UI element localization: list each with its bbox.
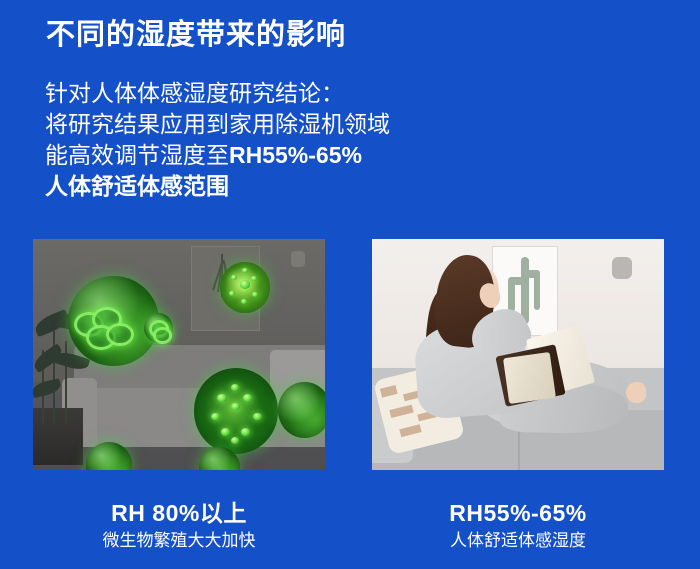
photo-right-comfort [372,239,664,470]
photo-left-microbes [33,239,325,470]
subcopy-line-1: 针对人体体感湿度研究结论： [45,78,390,109]
caption-left-subtitle: 微生物繁殖大大加快 [33,528,325,554]
book-page-lower [503,351,556,403]
page-title: 不同的湿度带来的影响 [46,18,346,53]
woman-foot [626,382,646,403]
scene-bright-room [372,239,664,470]
subcopy-line-3-normal: 能高效调节湿度至 [45,142,229,168]
caption-right-title: RH55%-65% [372,498,664,528]
subcopy-line-2: 将研究结果应用到家用除湿机领域 [45,109,390,140]
microbe-blob [278,382,325,437]
caption-left: RH 80%以上 微生物繁殖大大加快 [33,498,325,554]
caption-left-title: RH 80%以上 [33,498,325,528]
microbe-blob [194,368,279,453]
poster-root: 不同的湿度带来的影响 针对人体体感湿度研究结论： 将研究结果应用到家用除湿机领域… [0,0,700,569]
microbe-blob [144,313,173,343]
caption-right-subtitle: 人体舒适体感湿度 [372,528,664,554]
subcopy-line-3-highlight: RH55%-65% [229,142,362,168]
scene-dim-room [33,239,325,470]
subcopy-line-4: 人体舒适体感范围 [45,171,390,202]
wall-knob-icon [612,257,632,279]
microbe-blob [220,262,270,313]
subcopy-block: 针对人体体感湿度研究结论： 将研究结果应用到家用除湿机领域 能高效调节湿度至RH… [45,78,390,202]
subcopy-line-3: 能高效调节湿度至RH55%-65% [45,140,390,171]
wall-knob-icon [291,251,305,267]
plant-pot [33,408,83,466]
caption-right: RH55%-65% 人体舒适体感湿度 [372,498,664,554]
